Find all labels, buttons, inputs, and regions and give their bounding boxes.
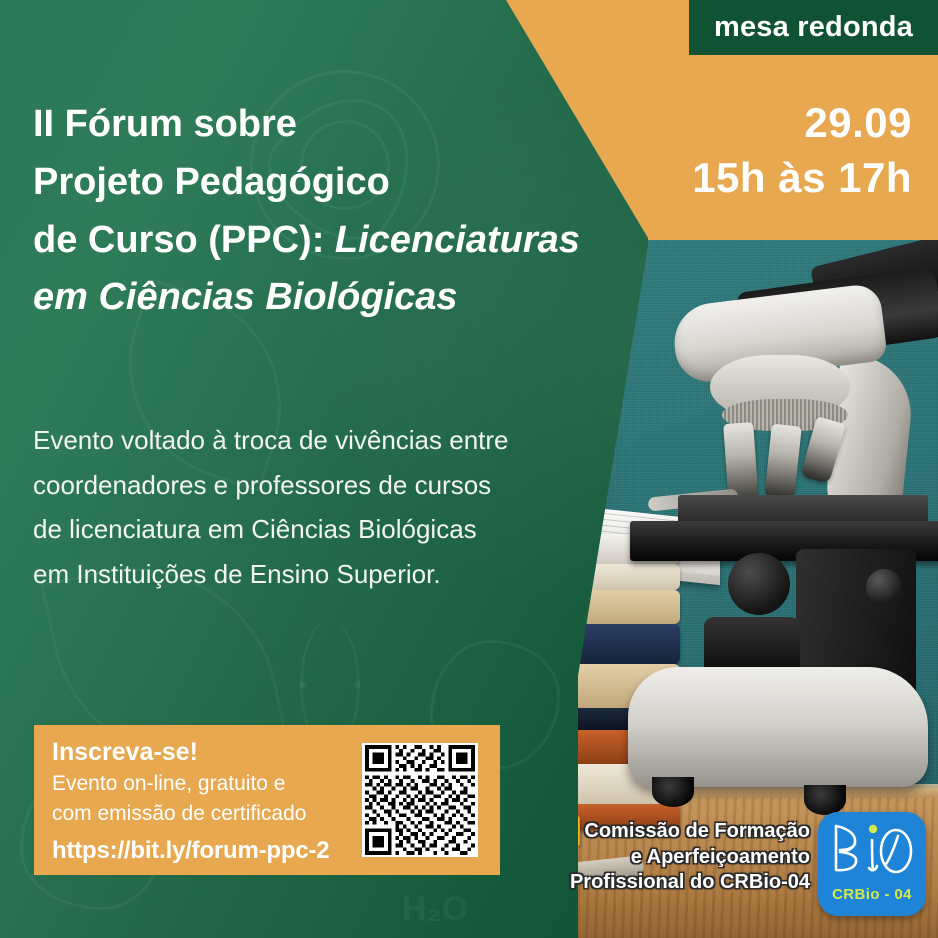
registration-text: Inscreva-se! Evento on-line, gratuito e … bbox=[52, 737, 332, 865]
microscope bbox=[618, 237, 938, 877]
event-poster: H₂O mesa redonda 29.09 15h às 17h II Fór… bbox=[0, 0, 938, 938]
title-line-4: em Ciências Biológicas bbox=[33, 269, 643, 327]
registration-box: Inscreva-se! Evento on-line, gratuito e … bbox=[34, 725, 500, 875]
base-foot-left bbox=[652, 777, 694, 807]
registration-subtitle-2: com emissão de certificado bbox=[52, 800, 332, 828]
microscope-base bbox=[628, 667, 928, 787]
event-description: Evento voltado à troca de vivências entr… bbox=[33, 418, 513, 597]
organizer-credit: Comissão de Formação e Aperfeiçoamento P… bbox=[510, 819, 810, 896]
title-line-2: Projeto Pedagógico bbox=[33, 154, 643, 212]
focus-knob bbox=[728, 553, 790, 615]
logo-label: CRBio - 04 bbox=[818, 886, 926, 903]
credit-line-1: Comissão de Formação bbox=[510, 819, 810, 845]
registration-heading: Inscreva-se! bbox=[52, 737, 332, 768]
title-line-3-plain: de Curso (PPC): bbox=[33, 219, 335, 261]
bio-wordmark-icon bbox=[828, 820, 916, 878]
h2o-watermark: H₂O bbox=[402, 890, 468, 929]
registration-url[interactable]: https://bit.ly/forum-ppc-2 bbox=[52, 837, 332, 865]
crbio-logo: CRBio - 04 bbox=[818, 812, 926, 916]
registration-subtitle-1: Evento on-line, gratuito e bbox=[52, 770, 332, 798]
mesa-redonda-badge: mesa redonda bbox=[689, 0, 938, 55]
title-line-3-italic: Licenciaturas bbox=[335, 219, 580, 261]
objective-lens-2 bbox=[764, 424, 802, 501]
badge-label: mesa redonda bbox=[714, 11, 913, 44]
credit-line-3: Profissional do CRBio-04 bbox=[510, 870, 810, 896]
qr-code[interactable] bbox=[362, 743, 478, 857]
page-title: II Fórum sobre Projeto Pedagógico de Cur… bbox=[33, 96, 643, 327]
qr-code-svg bbox=[364, 745, 476, 855]
title-line-1: II Fórum sobre bbox=[33, 96, 643, 154]
bio-dot-icon bbox=[869, 825, 877, 833]
fine-focus-knob bbox=[866, 569, 902, 605]
title-line-3: de Curso (PPC): Licenciaturas bbox=[33, 212, 643, 270]
credit-line-2: e Aperfeiçoamento bbox=[510, 845, 810, 871]
base-foot-right bbox=[804, 785, 846, 815]
